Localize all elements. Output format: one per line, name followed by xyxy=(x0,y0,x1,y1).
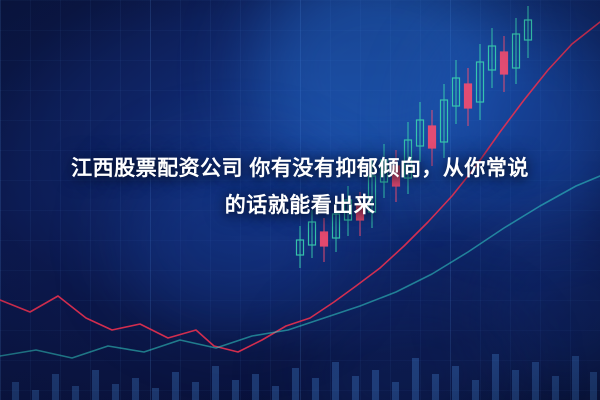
headline-line-1: 江西股票配资公司 你有没有抑郁倾向，从你常说 xyxy=(0,150,600,187)
headline: 江西股票配资公司 你有没有抑郁倾向，从你常说 的话就能看出来 xyxy=(0,150,600,224)
headline-line-2: 的话就能看出来 xyxy=(0,187,600,224)
banner-image: 江西股票配资公司 你有没有抑郁倾向，从你常说 的话就能看出来 xyxy=(0,0,600,400)
